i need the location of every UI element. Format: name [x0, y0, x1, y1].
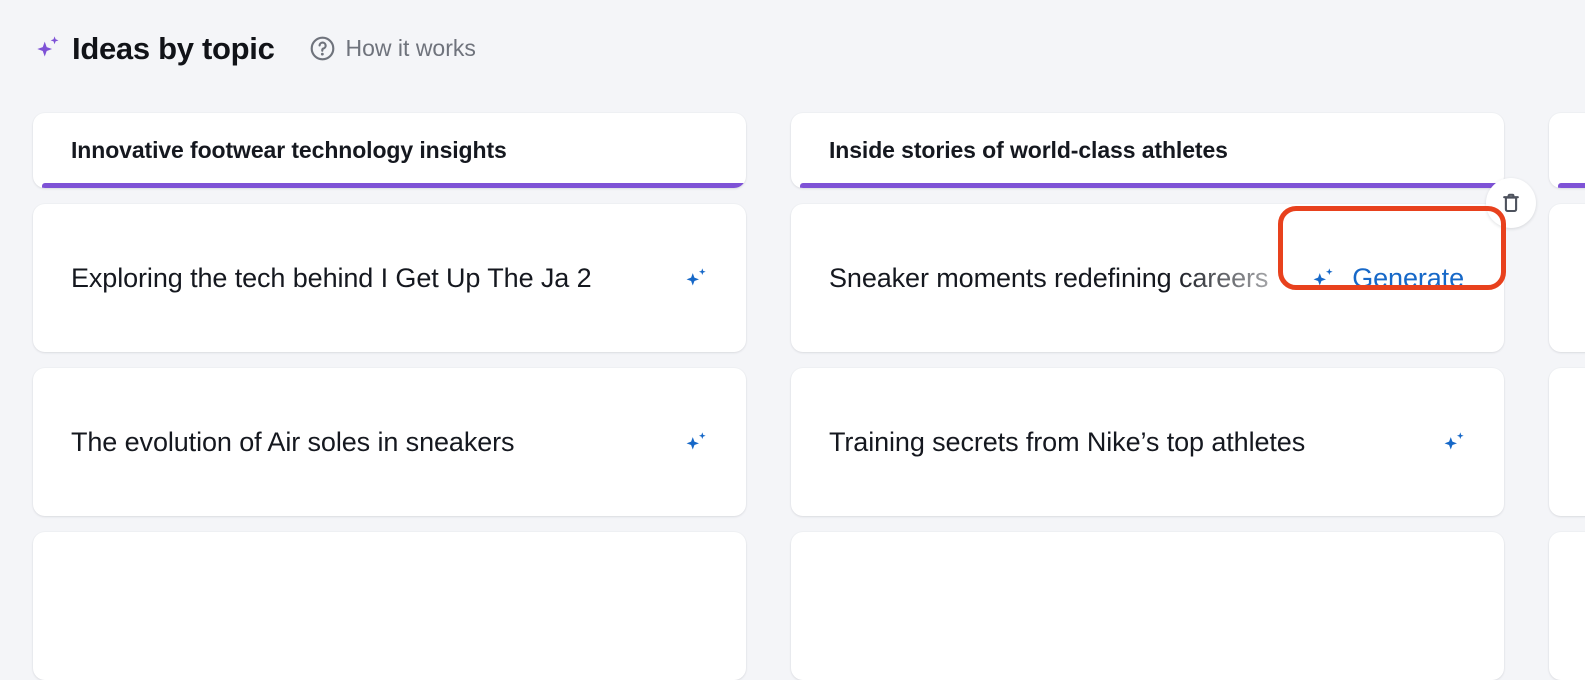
sparkle-icon[interactable] [1440, 428, 1472, 456]
page-title: Ideas by topic [72, 33, 275, 64]
idea-text-wrap: Exploring the tech behind I Get Up The J… [71, 254, 682, 302]
idea-card[interactable]: Exploring the tech behind I Get Up The J… [33, 204, 746, 352]
how-it-works-label: How it works [346, 37, 476, 60]
idea-card[interactable] [1549, 532, 1585, 680]
topic-title: Inside stories of world-class athletes [829, 137, 1228, 165]
topic-column [1549, 113, 1585, 680]
topic-column: Inside stories of world-class athletes S… [791, 113, 1504, 680]
idea-card[interactable]: The evolution of Air soles in sneakers [33, 368, 746, 516]
idea-card[interactable] [33, 532, 746, 680]
sparkle-icon[interactable] [682, 428, 714, 456]
sparkle-icon[interactable] [682, 264, 714, 292]
how-it-works-link[interactable]: How it works [309, 32, 476, 64]
topic-accent-underline [800, 183, 1504, 188]
topic-title: Innovative footwear technology insights [71, 137, 507, 165]
trash-icon [1499, 191, 1523, 215]
topic-header-card[interactable]: Inside stories of world-class athletes [791, 113, 1504, 188]
idea-text-wrap: The evolution of Air soles in sneakers [71, 418, 682, 466]
idea-card[interactable] [1549, 368, 1585, 516]
sparkle-icon [33, 33, 72, 63]
question-circle-icon [309, 35, 346, 62]
generate-label: Generate [1352, 265, 1464, 292]
sparkle-icon [1309, 264, 1341, 292]
idea-card[interactable] [791, 532, 1504, 680]
idea-text: Sneaker moments redefining careers [829, 263, 1268, 293]
idea-text: Training secrets from Nike’s top athlete… [829, 427, 1305, 457]
idea-card[interactable]: Training secrets from Nike’s top athlete… [791, 368, 1504, 516]
idea-text: The evolution of Air soles in sneakers [71, 427, 514, 457]
ideas-board: Innovative footwear technology insights … [33, 113, 1585, 547]
topic-header-card[interactable]: Innovative footwear technology insights [33, 113, 746, 188]
topic-column: Innovative footwear technology insights … [33, 113, 746, 680]
topic-accent-underline [42, 183, 746, 188]
idea-card[interactable] [1549, 204, 1585, 352]
idea-text: Exploring the tech behind I Get Up The J… [71, 263, 592, 293]
section-header: Ideas by topic How it works [33, 26, 476, 70]
topic-accent-underline [1558, 183, 1585, 188]
topic-header-card[interactable] [1549, 113, 1585, 188]
generate-button[interactable]: Generate [1291, 254, 1482, 302]
delete-idea-button[interactable] [1486, 178, 1536, 228]
idea-text-wrap: Training secrets from Nike’s top athlete… [829, 418, 1440, 466]
idea-card[interactable]: Sneaker moments redefining careers Gener… [791, 204, 1504, 352]
